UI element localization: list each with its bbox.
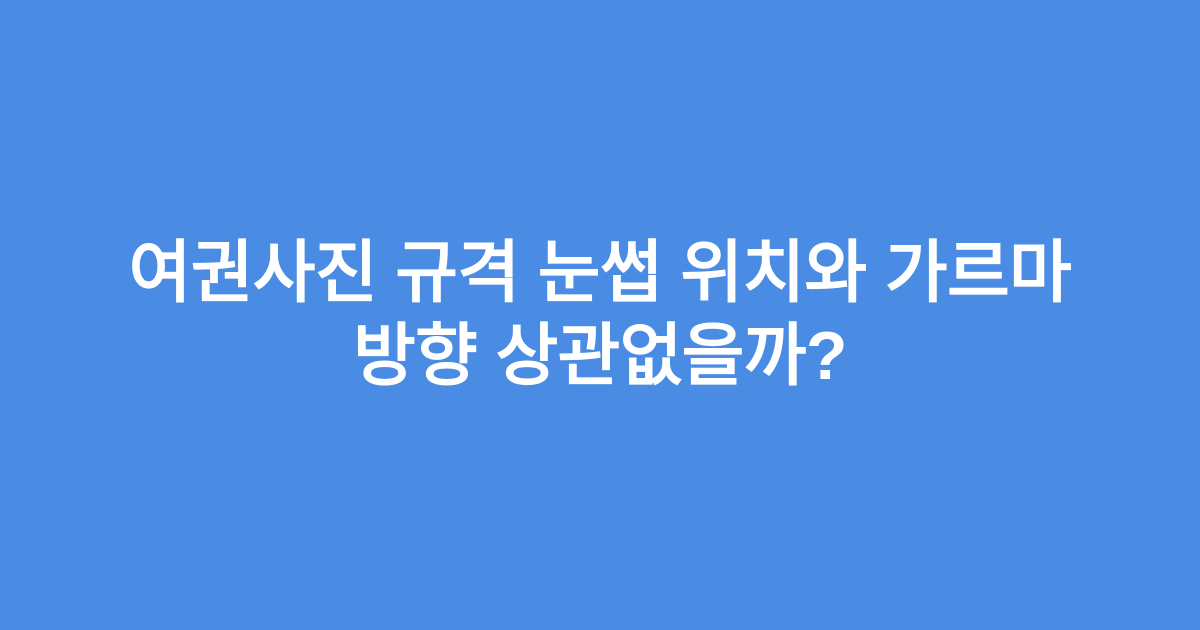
page-title: 여권사진 규격 눈썹 위치와 가르마 방향 상관없을까? xyxy=(96,232,1104,398)
og-image-card: 여권사진 규격 눈썹 위치와 가르마 방향 상관없을까? xyxy=(0,0,1200,630)
title-block: 여권사진 규격 눈썹 위치와 가르마 방향 상관없을까? xyxy=(96,232,1104,398)
